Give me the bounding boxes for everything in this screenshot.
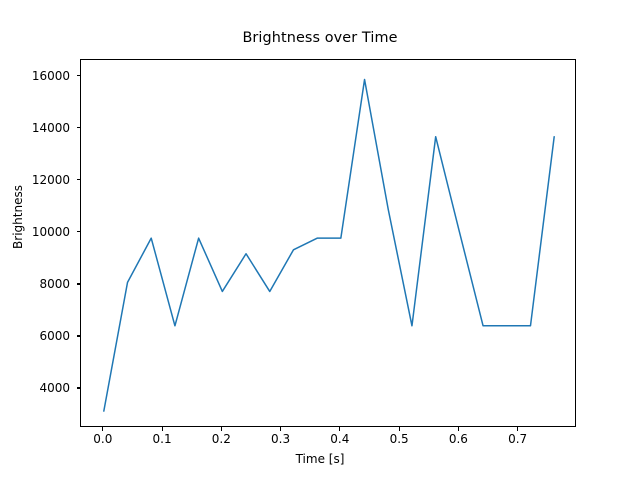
x-tick-label: 0.1 — [137, 432, 187, 446]
chart-title: Brightness over Time — [0, 30, 640, 46]
x-tick-label: 0.7 — [493, 432, 543, 446]
x-tick-label: 0.5 — [374, 432, 424, 446]
x-tick-label: 0.2 — [196, 432, 246, 446]
x-tick-label: 0.6 — [433, 432, 483, 446]
x-tick-label: 0.4 — [315, 432, 365, 446]
figure-canvas: Brightness over Time 4000600080001000012… — [0, 0, 640, 480]
x-axis-label: Time [s] — [0, 452, 640, 466]
plot-area — [80, 59, 576, 427]
line-series-svg — [81, 60, 577, 428]
y-axis-label: Brightness — [11, 33, 25, 401]
x-tick-label: 0.0 — [78, 432, 128, 446]
x-tick-label: 0.3 — [256, 432, 306, 446]
brightness-line — [104, 80, 554, 412]
